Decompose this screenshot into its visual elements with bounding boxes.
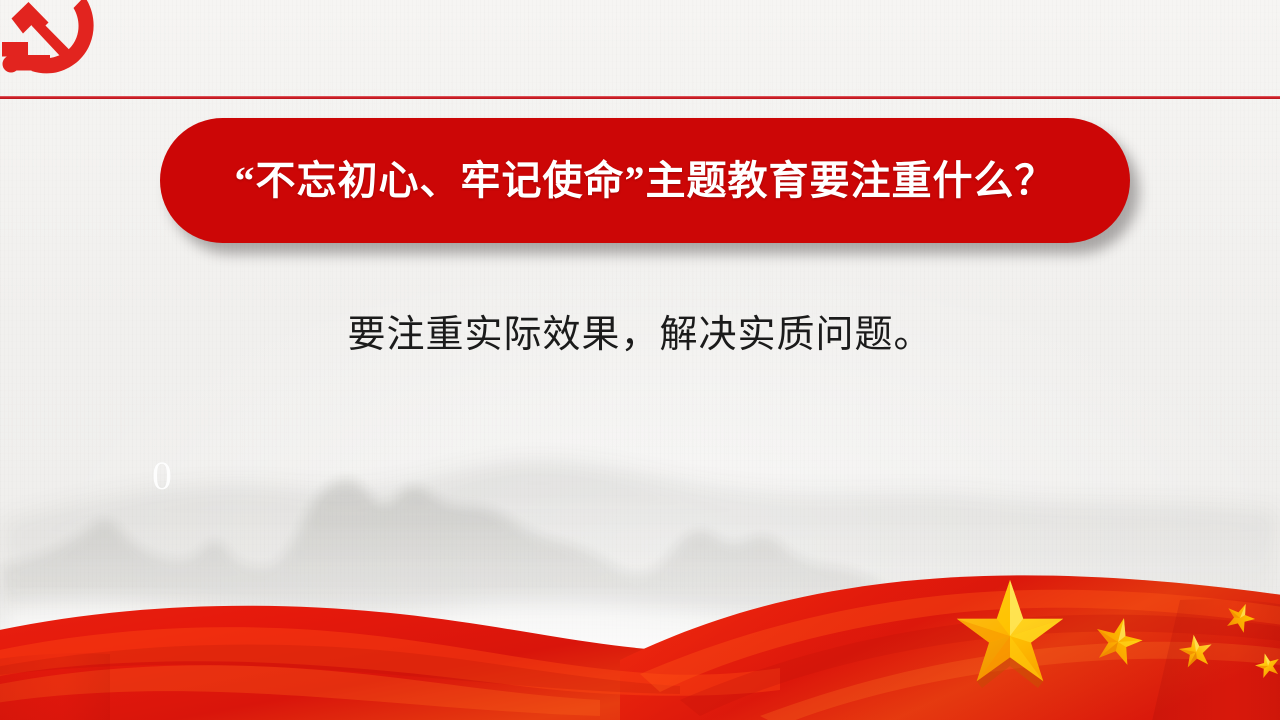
ink-wash-mountain-landscape [0,370,1280,670]
red-flag-ribbon [0,540,1280,720]
star-small-1 [1090,612,1146,667]
star-small-4 [1253,650,1280,679]
star-small-3 [1222,599,1259,635]
body-statement: 要注重实际效果，解决实质问题。 [0,310,1280,361]
title-banner-pill: “不忘初心、牢记使命”主题教育要注重什么？ [160,118,1130,243]
watermark-digit: 0 [152,456,172,496]
star-large [957,580,1063,688]
header-divider-rule [0,96,1280,99]
page-title: “不忘初心、牢记使命”主题教育要注重什么？ [235,161,1056,201]
cpc-hammer-sickle-emblem [0,0,106,92]
star-small-2 [1177,633,1214,669]
slide-canvas: “不忘初心、牢记使命”主题教育要注重什么？ 要注重实际效果，解决实质问题。 0 [0,0,1280,720]
